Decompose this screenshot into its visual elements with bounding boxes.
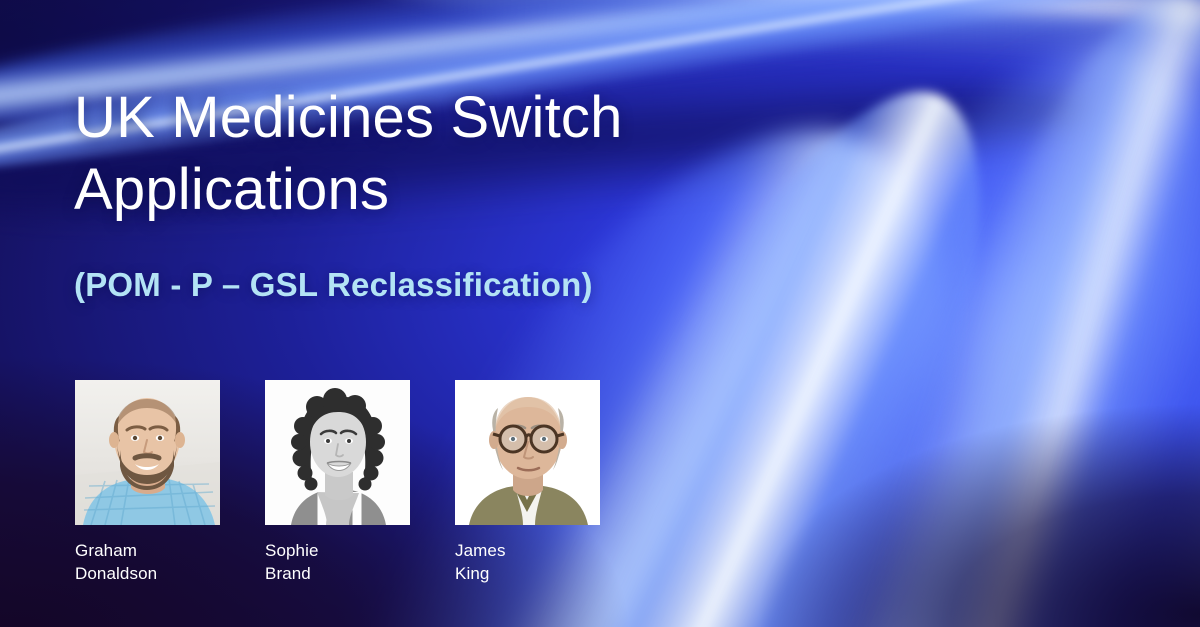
presenter-item: Graham Donaldson	[75, 380, 220, 585]
presenter-name: Graham Donaldson	[75, 539, 220, 585]
banner-title: UK Medicines Switch Applications	[74, 82, 774, 226]
banner-content: UK Medicines Switch Applications (POM - …	[0, 0, 1200, 627]
presenter-item: James King	[455, 380, 600, 585]
presenter-list: Graham Donaldson	[75, 380, 600, 585]
presenter-photo-james-king	[455, 380, 600, 525]
banner-subtitle: (POM - P – GSL Reclassification)	[74, 264, 593, 306]
portrait-graham-donaldson-icon	[75, 380, 220, 525]
portrait-sophie-brand-icon	[265, 380, 410, 525]
presenter-name: James King	[455, 539, 600, 585]
presenter-name: Sophie Brand	[265, 539, 410, 585]
portrait-james-king-icon	[455, 380, 600, 525]
presenter-item: Sophie Brand	[265, 380, 410, 585]
presenter-photo-sophie-brand	[265, 380, 410, 525]
presenter-photo-graham-donaldson	[75, 380, 220, 525]
promo-banner: UK Medicines Switch Applications (POM - …	[0, 0, 1200, 627]
